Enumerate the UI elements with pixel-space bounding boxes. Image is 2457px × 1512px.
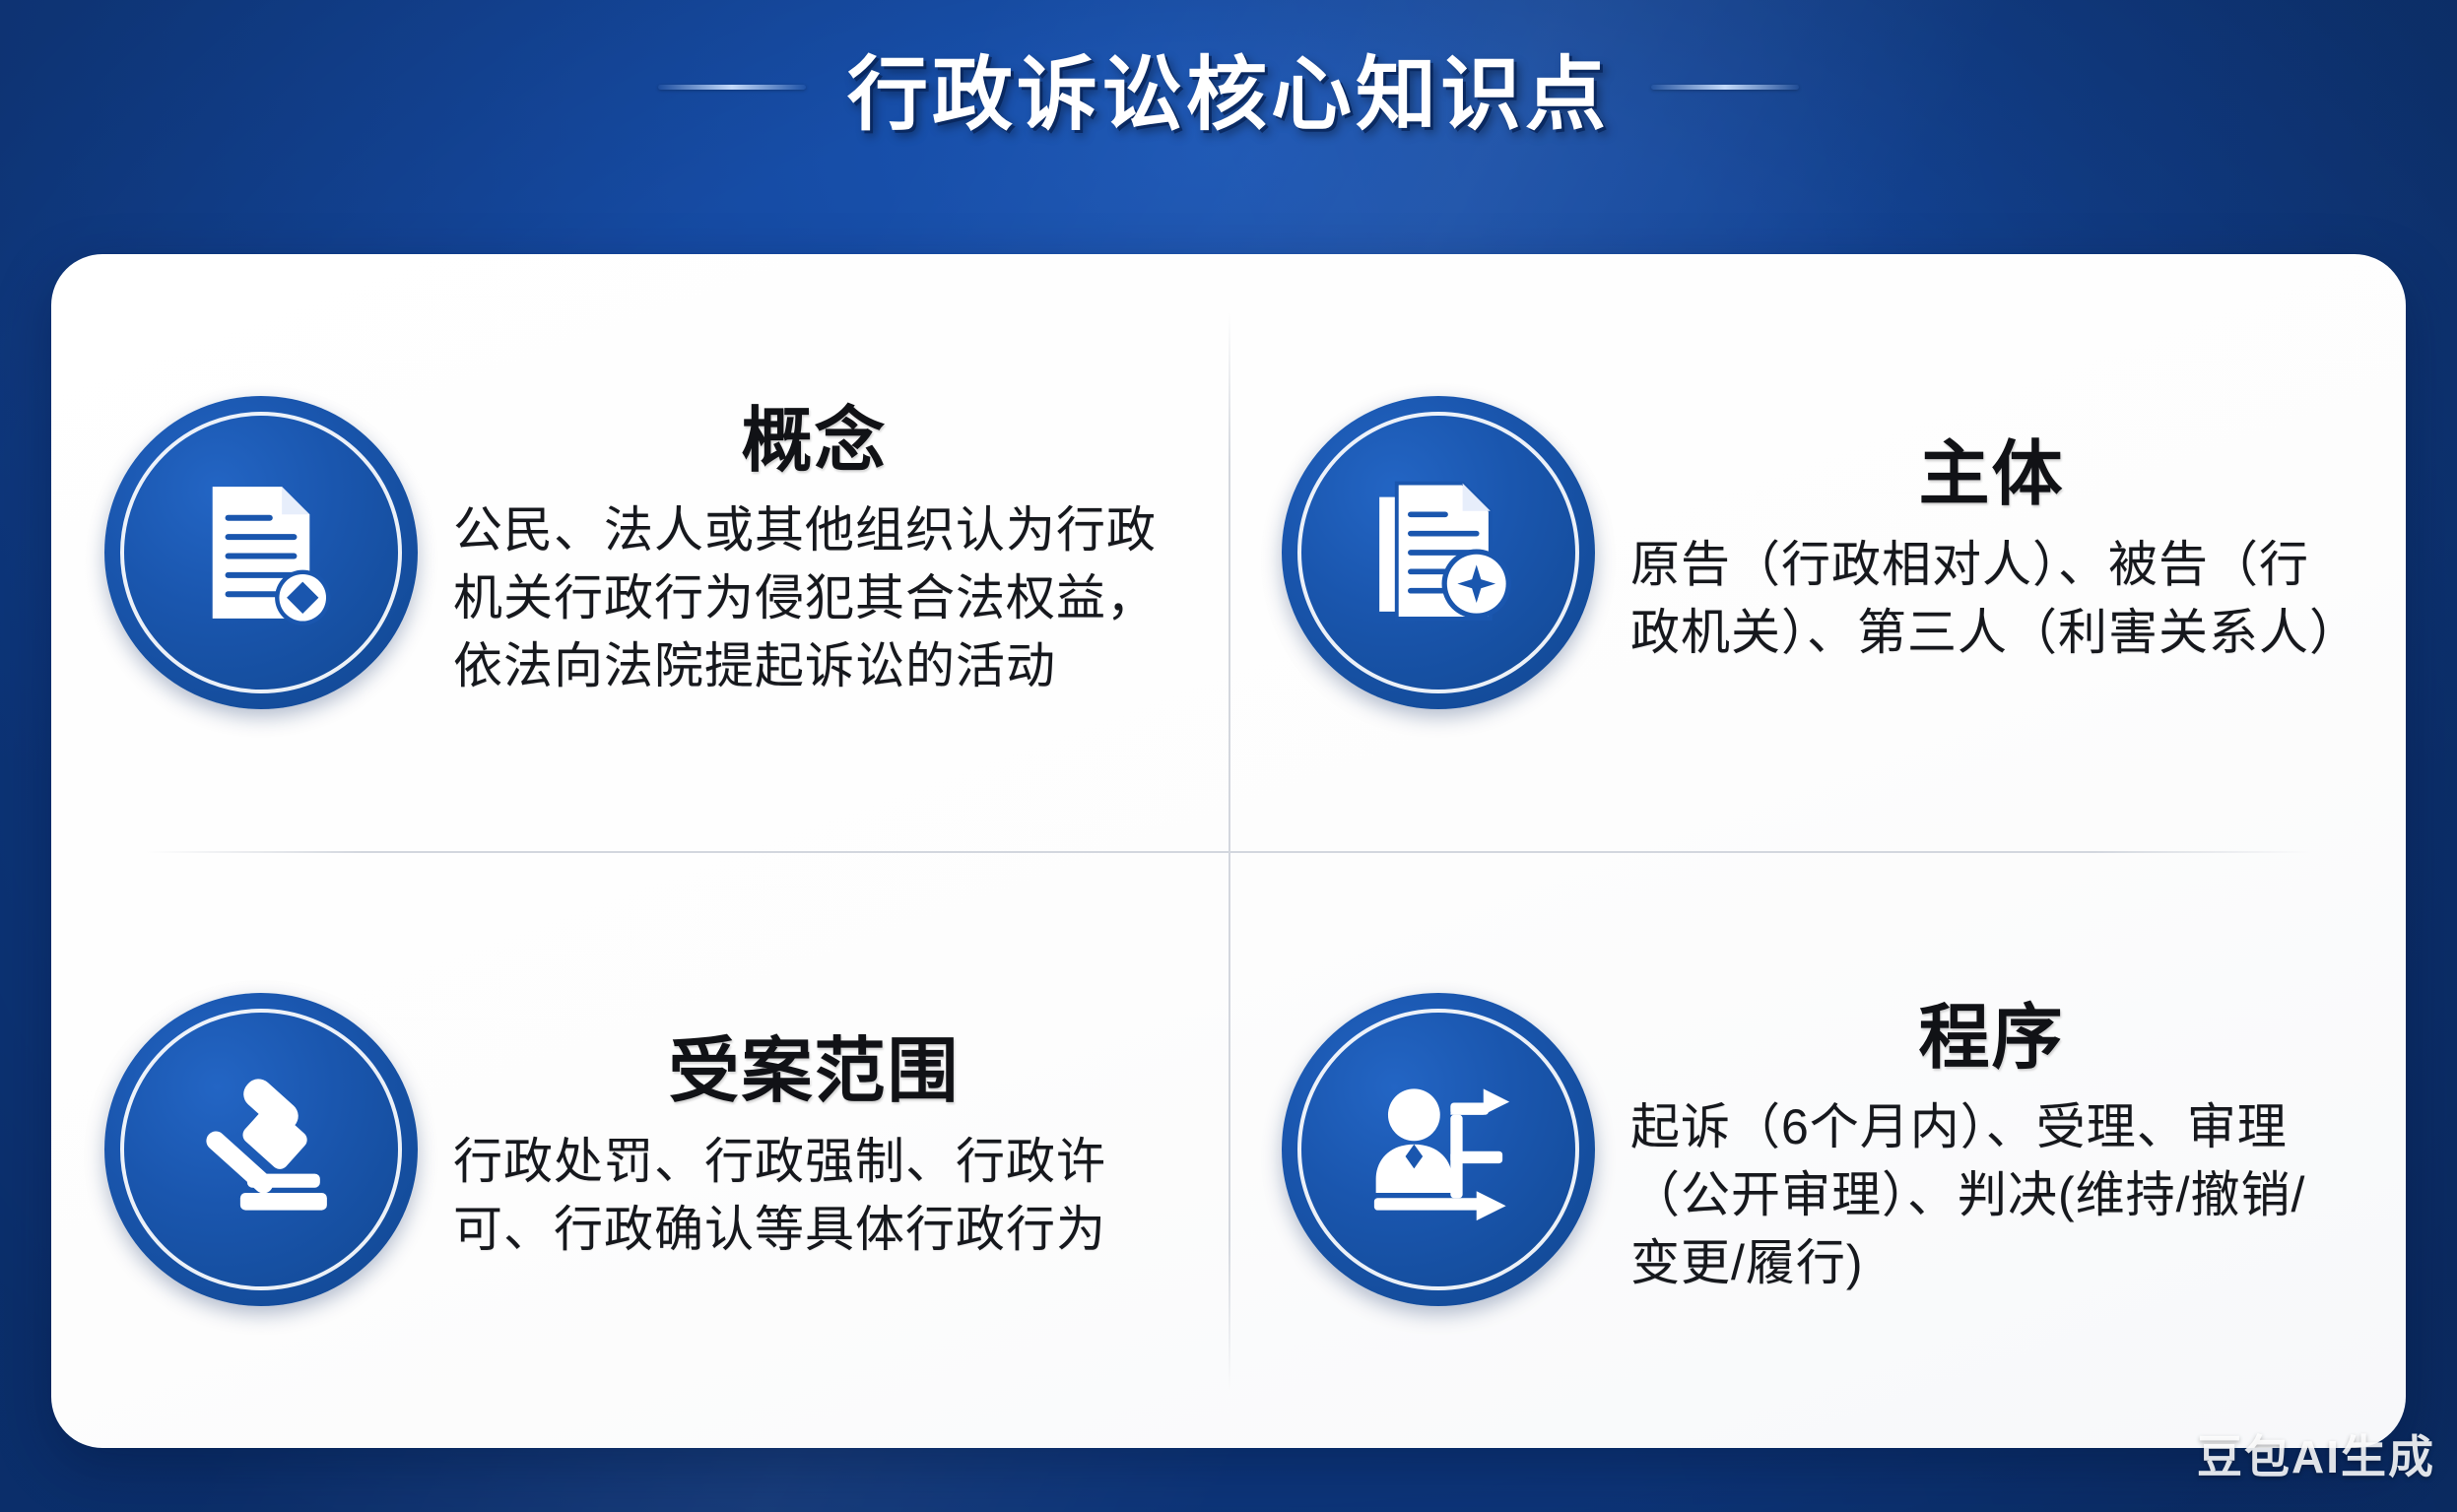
gavel-icon: [174, 1063, 348, 1236]
header: 行政诉讼核心知识点: [0, 28, 2457, 146]
parties-icon-badge: [1282, 396, 1595, 709]
procedure-title: 程序: [1630, 1002, 2353, 1077]
procedure-icon-badge: [1282, 993, 1595, 1306]
document-lines-diamond-icon: [174, 466, 348, 639]
person-flow-arrows-icon: [1352, 1063, 1525, 1236]
scope-title: 受案范围: [453, 1035, 1175, 1110]
concept-icon-badge: [104, 396, 418, 709]
concept-title: 概念: [453, 405, 1175, 480]
procedure-body: 程序 起诉（6个月内）、受理、审理（公开审理）、判决(维持/撤销/变更/履行): [1630, 1002, 2353, 1298]
scope-text: 行政处罚、行政强制、行政许可、行政确认等具体行政行为: [453, 1128, 1175, 1264]
title-rule-right: [1651, 85, 1799, 90]
knowledge-card: 概念 公民、法人或其他组织认为行政机关行政行为侵犯其合法权益，依法向法院提起诉讼…: [51, 254, 2406, 1448]
quadrant-parties[interactable]: 主体 原告（行政相对人）、被告（行政机关）、第三人（利害关系人）: [1228, 254, 2406, 851]
quadrant-scope[interactable]: 受案范围 行政处罚、行政强制、行政许可、行政确认等具体行政行为: [51, 851, 1228, 1448]
horizontal-divider: [146, 851, 2311, 853]
page-title: 行政诉讼核心知识点: [847, 29, 1610, 146]
scope-icon-badge: [104, 993, 418, 1306]
concept-text: 公民、法人或其他组织认为行政机关行政行为侵犯其合法权益，依法向法院提起诉讼的活动: [453, 496, 1175, 700]
title-rule-left: [658, 85, 806, 90]
scope-body: 受案范围 行政处罚、行政强制、行政许可、行政确认等具体行政行为: [453, 1035, 1175, 1264]
concept-body: 概念 公民、法人或其他组织认为行政机关行政行为侵犯其合法权益，依法向法院提起诉讼…: [453, 405, 1175, 701]
documents-plus-icon: [1352, 466, 1525, 639]
parties-body: 主体 原告（行政相对人）、被告（行政机关）、第三人（利害关系人）: [1630, 438, 2353, 667]
parties-title: 主体: [1630, 438, 2353, 513]
procedure-text: 起诉（6个月内）、受理、审理（公开审理）、判决(维持/撤销/变更/履行): [1630, 1093, 2353, 1297]
parties-text: 原告（行政相对人）、被告（行政机关）、第三人（利害关系人）: [1630, 531, 2353, 667]
quadrant-concept[interactable]: 概念 公民、法人或其他组织认为行政机关行政行为侵犯其合法权益，依法向法院提起诉讼…: [51, 254, 1228, 851]
quadrant-procedure[interactable]: 程序 起诉（6个月内）、受理、审理（公开审理）、判决(维持/撤销/变更/履行): [1228, 851, 2406, 1448]
